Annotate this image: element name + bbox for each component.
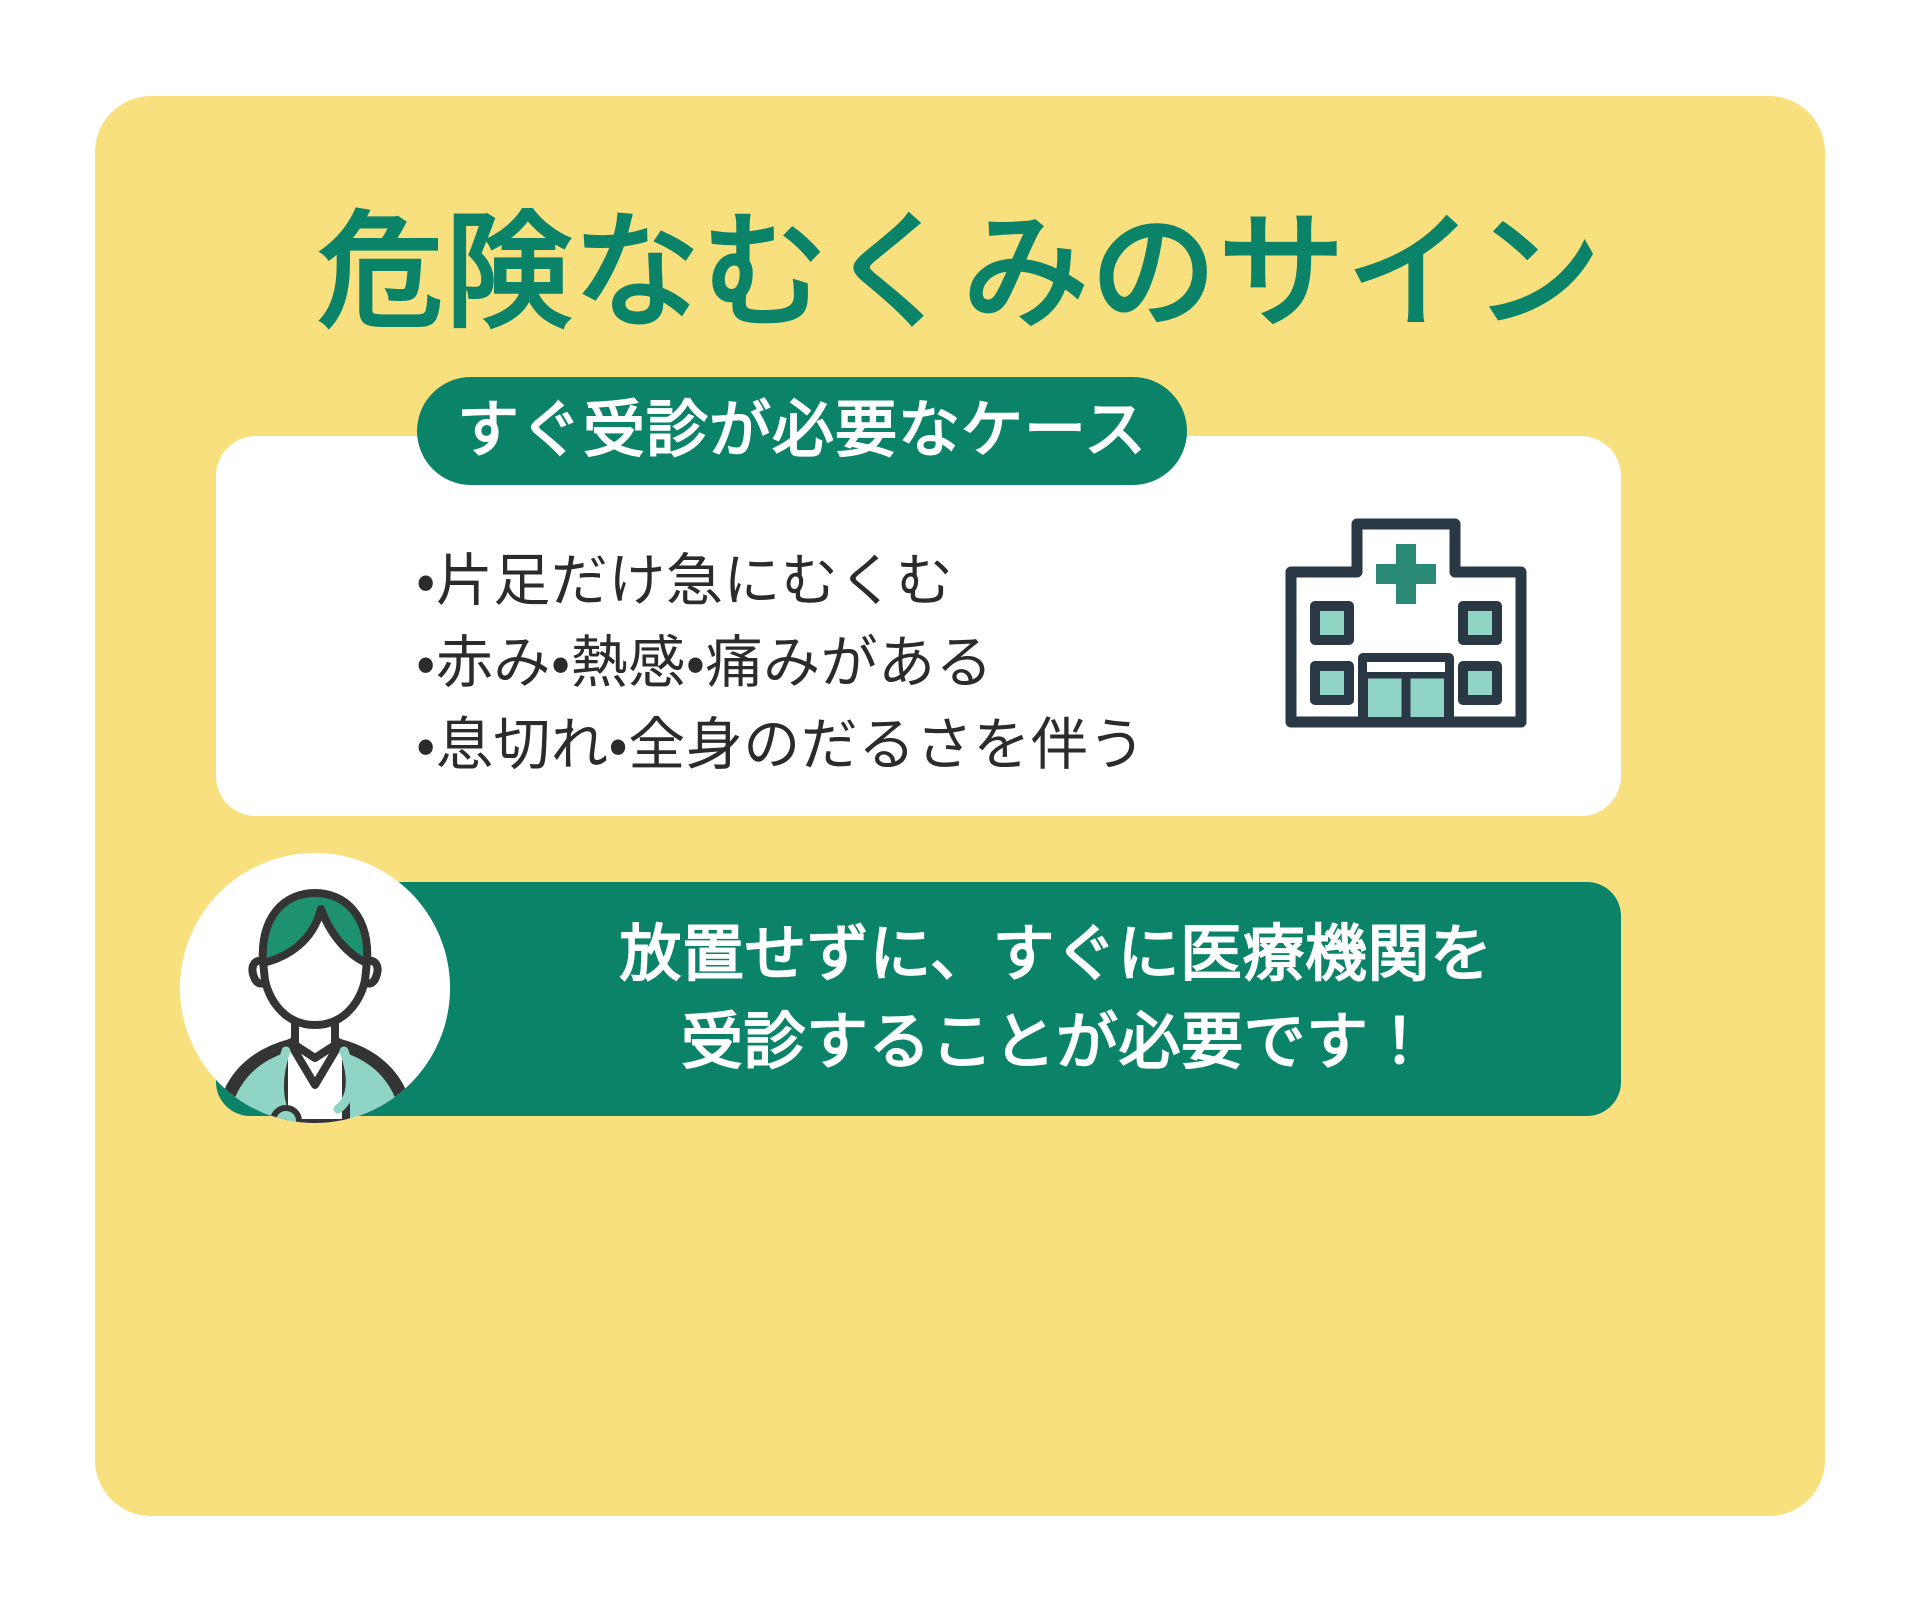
doctor-avatar-icon: [180, 853, 450, 1123]
hospital-building-icon: [1281, 514, 1531, 732]
advice-line-1: 放置せずに、すぐに医療機関を: [619, 911, 1492, 999]
advice-banner-text: 放置せずに、すぐに医療機関を 受診することが必要です！: [556, 882, 1556, 1116]
status-badge-label: すぐ受診が必要なケース: [457, 400, 1147, 462]
list-item: ・息切れ・全身のだるさを伴う: [416, 704, 1236, 786]
symptom-list: ・片足だけ急にむくむ ・赤み・熱感・痛みがある ・息切れ・全身のだるさを伴う: [416, 540, 1236, 786]
advice-line-2: 受診することが必要です！: [681, 999, 1431, 1087]
symptom-panel: ・片足だけ急にむくむ ・赤み・熱感・痛みがある ・息切れ・全身のだるさを伴う: [216, 436, 1621, 816]
infographic-card: 危険なむくみのサイン ・片足だけ急にむくむ ・赤み・熱感・痛みがある ・息切れ・…: [95, 96, 1825, 1516]
list-item: ・片足だけ急にむくむ: [416, 540, 1236, 622]
status-badge: すぐ受診が必要なケース: [417, 377, 1187, 485]
page-title: 危険なむくみのサイン: [95, 199, 1825, 348]
list-item: ・赤み・熱感・痛みがある: [416, 622, 1236, 704]
